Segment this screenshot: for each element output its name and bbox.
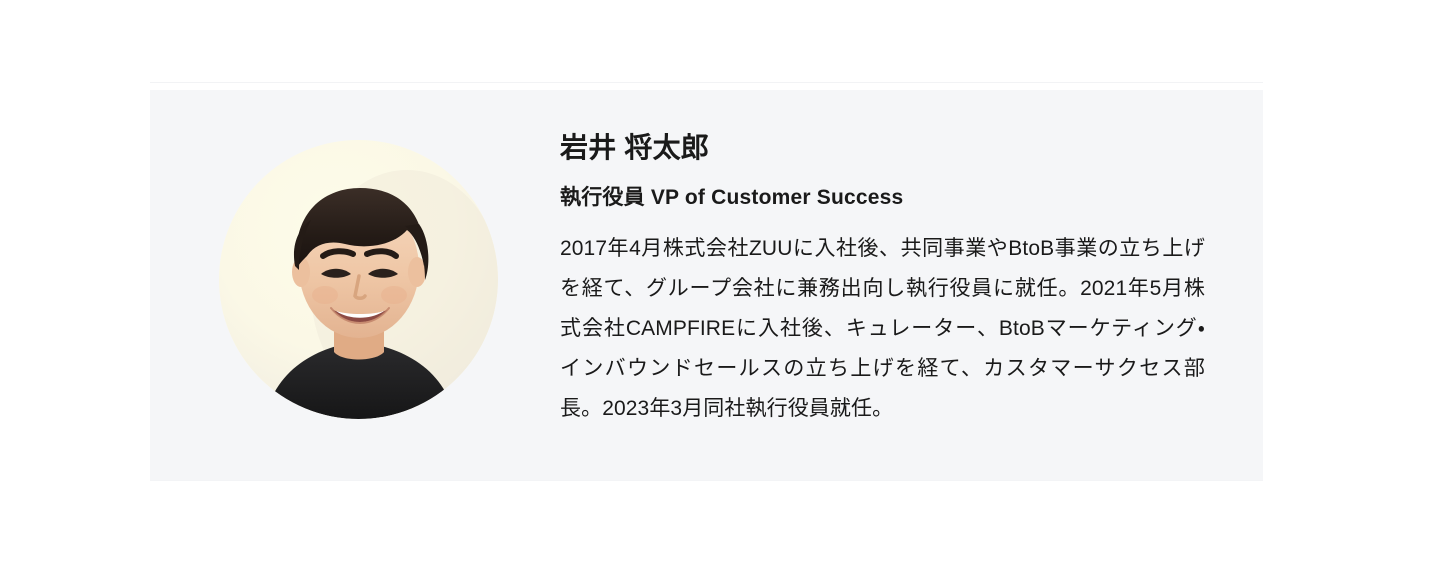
person-portrait-photo-icon: [219, 140, 498, 419]
avatar: [219, 140, 498, 419]
bio-column: 岩井 将太郎 執行役員 VP of Customer Success 2017年…: [560, 129, 1205, 429]
profile-card: 岩井 将太郎 執行役員 VP of Customer Success 2017年…: [150, 82, 1263, 481]
person-title: 執行役員 VP of Customer Success: [560, 183, 1205, 212]
card-top-band: [150, 82, 1263, 90]
card-bottom-separator: [150, 480, 1263, 481]
person-name: 岩井 将太郎: [560, 129, 1205, 167]
person-bio: 2017年4月株式会社ZUUに入社後、共同事業やBtoB事業の立ち上げを経て、グ…: [560, 229, 1205, 429]
